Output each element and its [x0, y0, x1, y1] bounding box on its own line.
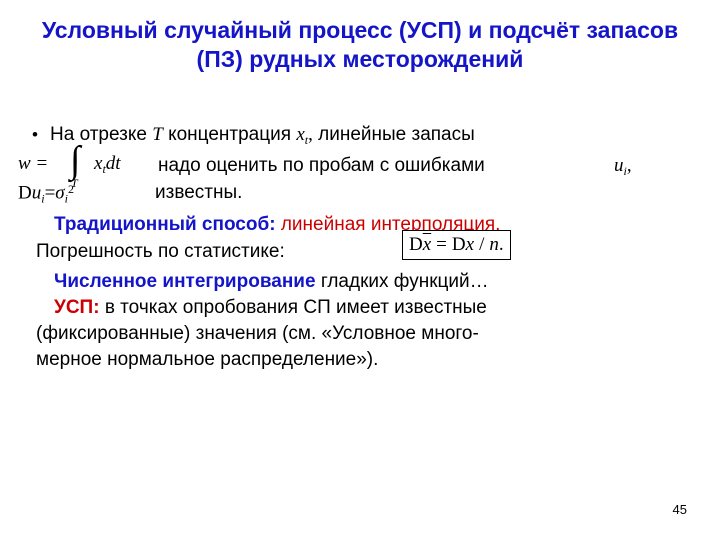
line1-text-c: линейные запасы [318, 124, 475, 145]
line1-comma: , [308, 124, 313, 145]
math-x: x [296, 124, 304, 145]
line-mern: мерное нормальное распределение»). [36, 347, 378, 372]
line-usp: УСП: в точках опробования СП имеет извес… [54, 295, 487, 320]
line-numeric: Численное интегрирование гладких функций… [54, 269, 489, 294]
usp-label: УСП: [54, 297, 100, 318]
line-error: Погрешность по статистике: [36, 239, 285, 264]
formula-block: w = ∫ T xtdt надо оценить по пробам с ош… [18, 147, 708, 205]
page-title: Условный случайный процесс (УСП) и подсч… [40, 16, 680, 74]
boxed-n: n [489, 234, 499, 255]
boxed-equals: = [436, 234, 447, 255]
boxed-formula: Dx = Dx / n. [402, 230, 511, 260]
formula-known-text: известны. [155, 180, 242, 205]
line1-text-a: На отрезке [50, 124, 147, 145]
numeric-rest: гладких функций… [321, 271, 489, 292]
integrand: xtdt [94, 151, 121, 182]
math-u-i: ui, [614, 153, 632, 184]
formula-variance-u: Dui=σi2 [18, 177, 74, 212]
boxed-x2: x [466, 234, 474, 255]
boxed-xbar: x [423, 234, 431, 255]
math-T: T [152, 124, 163, 145]
bullet-glyph: • [32, 122, 50, 147]
line-fixed: (фиксированные) значения (см. «Условное … [36, 321, 479, 346]
boxed-period: . [499, 234, 504, 255]
formula-w-equals: w = [18, 151, 48, 176]
traditional-label: Традиционный способ: [54, 214, 276, 235]
formula-estimate-text: надо оценить по пробам с ошибками [158, 153, 485, 178]
slide: Условный случайный процесс (УСП) и подсч… [0, 0, 720, 540]
usp-rest: в точках опробования СП имеет известные [105, 297, 487, 318]
boxed-D: D [409, 234, 423, 255]
slide-body: •На отрезке T концентрация xt, линейные … [18, 122, 708, 153]
line1-text-b: концентрация [168, 124, 291, 145]
numeric-label: Численное интегрирование [54, 271, 316, 292]
error-text: Погрешность по статистике: [36, 241, 285, 262]
boxed-slash: / [479, 234, 484, 255]
boxed-D2: D [452, 234, 466, 255]
page-number: 45 [673, 502, 687, 517]
